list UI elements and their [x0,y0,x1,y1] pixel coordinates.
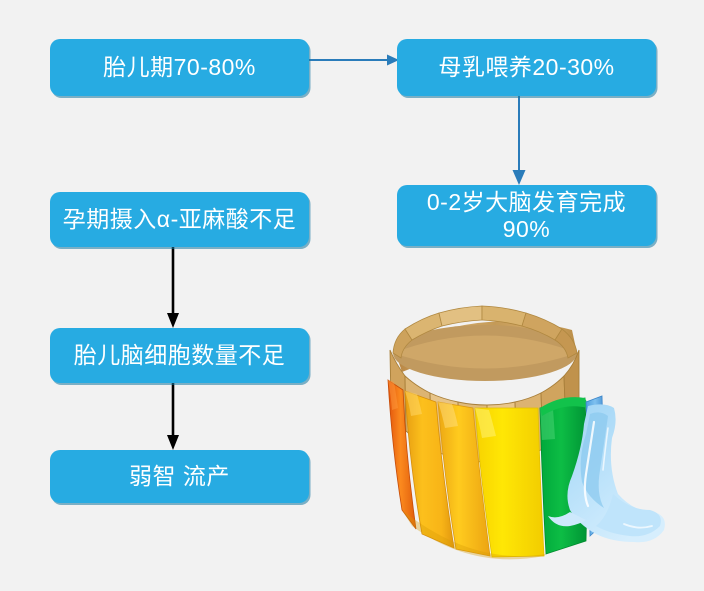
node-outcome-retardation-miscarriage[interactable]: 弱智 流产 [50,450,309,503]
node-prenatal-stage[interactable]: 胎儿期70-80% [50,39,309,96]
node-breastfeeding[interactable]: 母乳喂养20-30% [397,39,656,96]
node-insufficient-brain-cells[interactable]: 胎儿脑细胞数量不足 [50,328,309,383]
connector-cells-to-outcome [165,383,181,453]
leaking-barrel-illustration [372,298,672,583]
node-insufficient-ala-intake[interactable]: 孕期摄入α-亚麻酸不足 [50,192,309,247]
node-brain-development[interactable]: 0-2岁大脑发育完成 90% [397,185,656,246]
connector-breast-to-brain [511,96,527,188]
node-brain-development-line1: 0-2岁大脑发育完成 [427,189,626,215]
flowchart-canvas: 胎儿期70-80% 孕期摄入α-亚麻酸不足 胎儿脑细胞数量不足 弱智 流产 母乳… [0,0,704,591]
connector-prenatal-to-breast [309,52,401,68]
connector-intake-to-cells [165,247,181,331]
node-brain-development-line2: 90% [427,216,626,242]
